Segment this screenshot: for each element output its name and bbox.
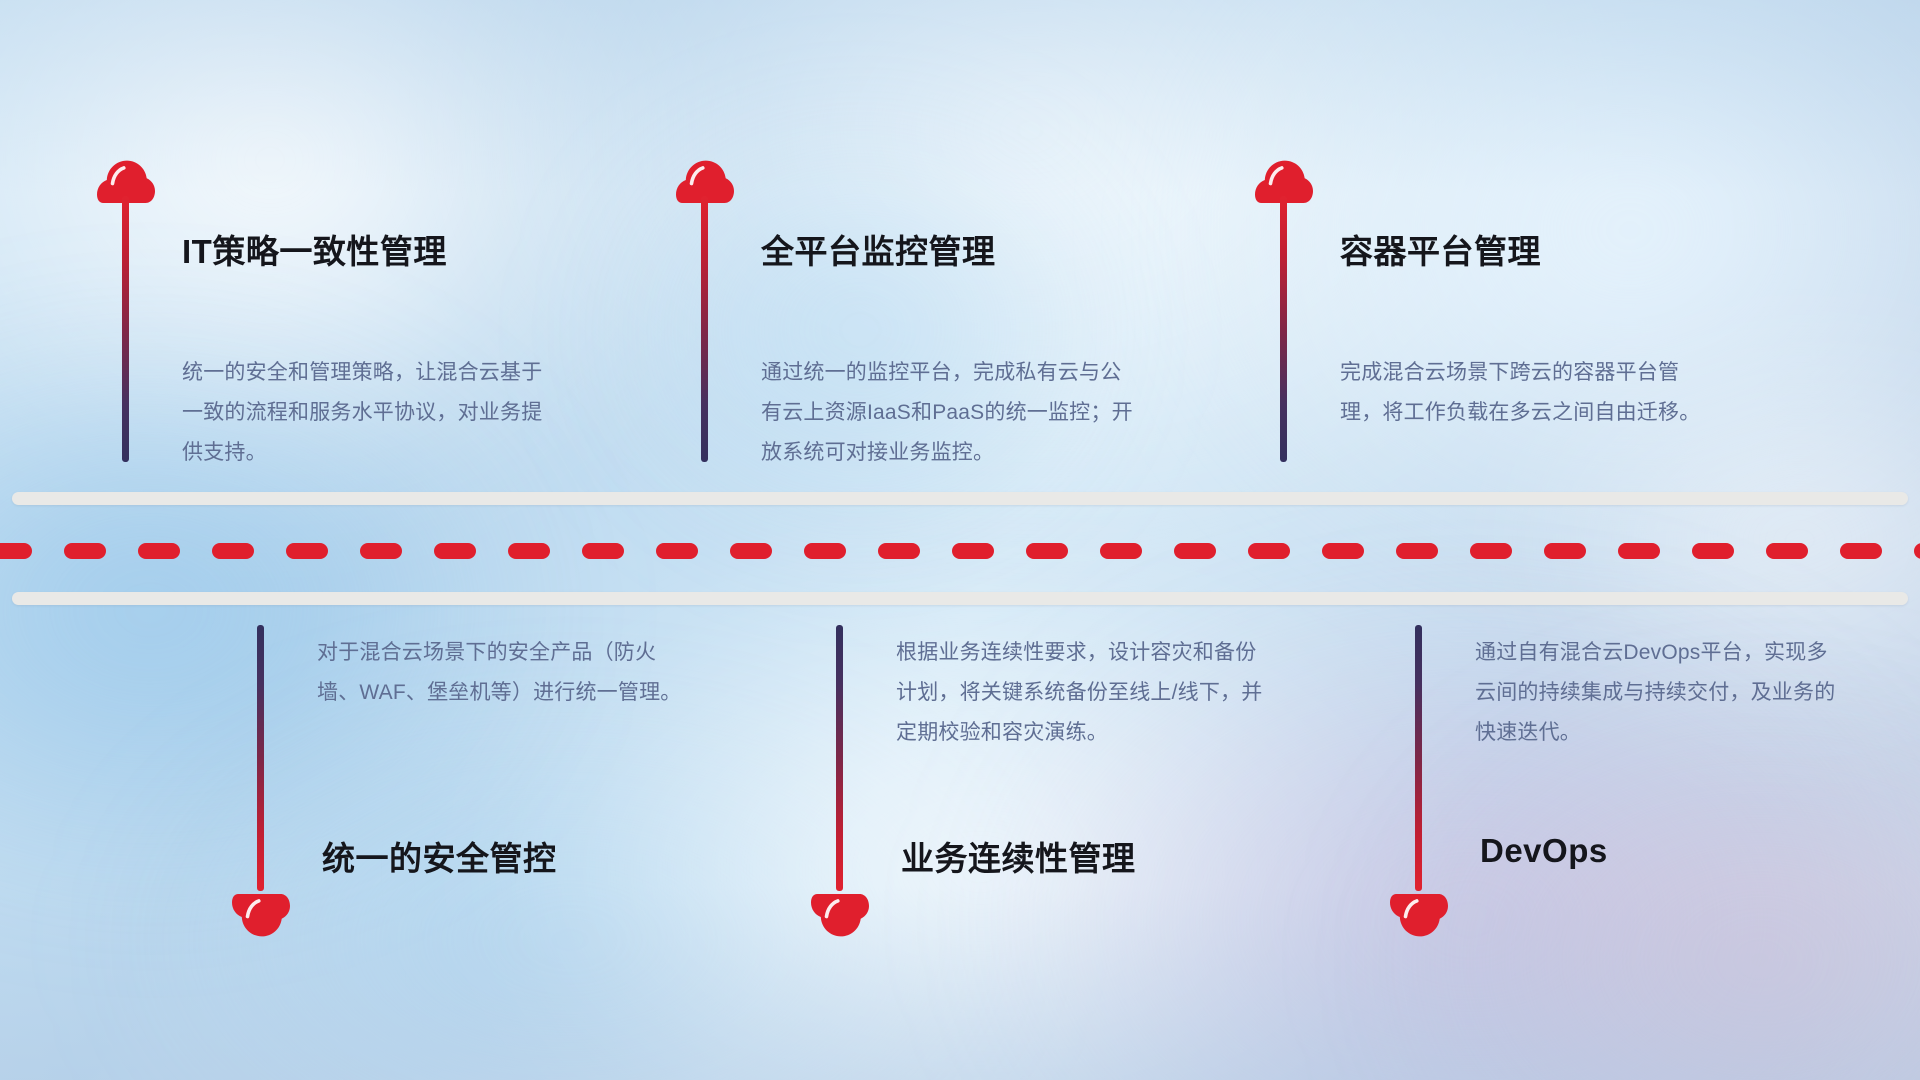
bottom-column-1-title: 统一的安全管控: [322, 832, 557, 880]
bottom-column-1-body: 对于混合云场景下的安全产品（防火墙、WAF、堡垒机等）进行统一管理。: [317, 633, 689, 713]
road-dash: [804, 543, 846, 559]
connector-line: [257, 625, 264, 891]
top-column-2-body: 通过统一的监控平台，完成私有云与公有云上资源IaaS和PaaS的统一监控；开放系…: [761, 353, 1133, 473]
road-rail-bottom: [12, 592, 1908, 605]
road-dash: [1544, 543, 1586, 559]
top-column-3-body: 完成混合云场景下跨云的容器平台管理，将工作负载在多云之间自由迁移。: [1340, 353, 1712, 433]
road-dash: [656, 543, 698, 559]
road-dash: [0, 543, 32, 559]
road-dash: [138, 543, 180, 559]
road-dash: [1470, 543, 1512, 559]
road-dash: [1026, 543, 1068, 559]
road-dash: [1396, 543, 1438, 559]
road-dashed-centerline: [0, 543, 1920, 559]
bottom-column-2-title: 业务连续性管理: [901, 832, 1136, 880]
cloud-icon: [811, 893, 869, 937]
road-dash: [878, 543, 920, 559]
road-dash: [212, 543, 254, 559]
road-dash: [1100, 543, 1142, 559]
road-dash: [952, 543, 994, 559]
road-dash: [730, 543, 772, 559]
road-dash: [286, 543, 328, 559]
cloud-icon: [232, 893, 290, 937]
road-dash: [434, 543, 476, 559]
road-dash: [582, 543, 624, 559]
bottom-column-3-title: DevOps: [1480, 832, 1608, 870]
cloud-icon: [1390, 893, 1448, 937]
top-column-1-title: IT策略一致性管理: [182, 225, 447, 273]
bottom-column-2-body: 根据业务连续性要求，设计容灾和备份计划，将关键系统备份至线上/线下，并定期校验和…: [896, 633, 1268, 753]
top-column-2-title: 全平台监控管理: [761, 225, 996, 273]
road-rail-top: [12, 492, 1908, 505]
connector-line: [701, 196, 708, 462]
connector-line: [1280, 196, 1287, 462]
road-dash: [1914, 543, 1920, 559]
connector-line: [1415, 625, 1422, 891]
road-dash: [1322, 543, 1364, 559]
road-dash: [1174, 543, 1216, 559]
connector-line: [122, 196, 129, 462]
road-dash: [1618, 543, 1660, 559]
top-column-1-body: 统一的安全和管理策略，让混合云基于一致的流程和服务水平协议，对业务提供支持。: [182, 353, 554, 473]
road-dash: [1766, 543, 1808, 559]
connector-line: [836, 625, 843, 891]
top-column-3-title: 容器平台管理: [1340, 225, 1541, 273]
road-dash: [1692, 543, 1734, 559]
road-dash: [1840, 543, 1882, 559]
road-dash: [64, 543, 106, 559]
road-dash: [508, 543, 550, 559]
road-dash: [1248, 543, 1290, 559]
bottom-column-3-body: 通过自有混合云DevOps平台，实现多云间的持续集成与持续交付，及业务的快速迭代…: [1475, 633, 1847, 753]
road-dash: [360, 543, 402, 559]
infographic-canvas: IT策略一致性管理 统一的安全和管理策略，让混合云基于一致的流程和服务水平协议，…: [0, 0, 1920, 1080]
